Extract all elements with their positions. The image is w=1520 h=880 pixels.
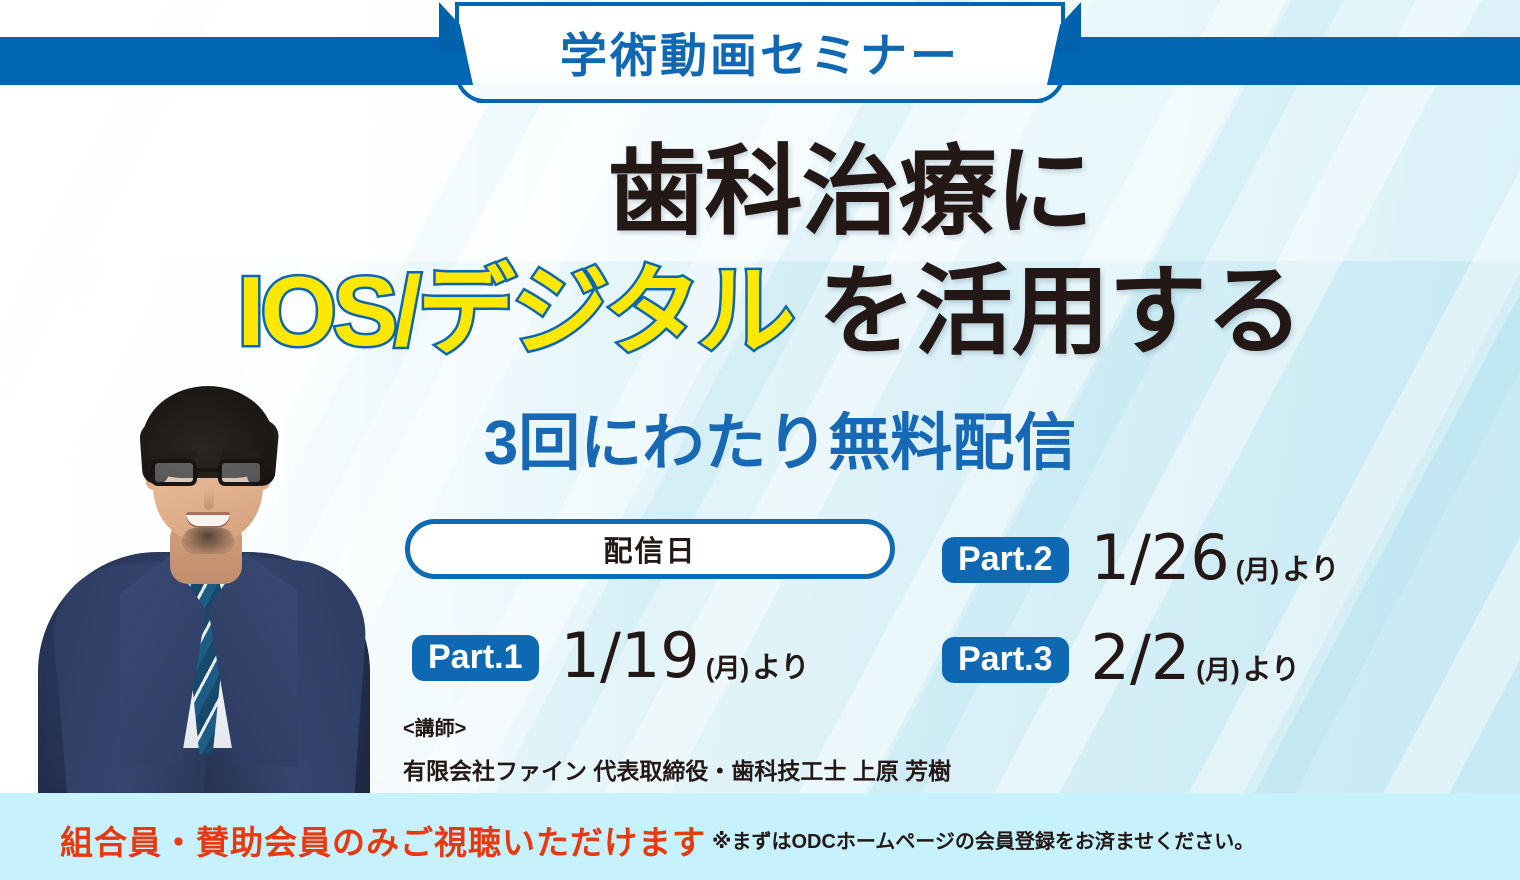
title-highlight-ios-digital: IOS/デジタル <box>237 256 791 366</box>
part1-date: 1/19 <box>561 625 700 687</box>
schedule-row-part2: Part.2 1/26 (月) より <box>942 527 1339 592</box>
photo-goatee <box>182 528 234 554</box>
part1-suffix: より <box>752 654 809 683</box>
title-line-2: IOS/デジタル を活用する <box>0 258 1520 366</box>
part2-date: 1/26 <box>1091 527 1230 589</box>
part3-date: 2/2 <box>1091 627 1191 689</box>
lecturer-name: 有限会社ファイン 代表取締役・歯科技工士 上原 芳樹 <box>403 752 951 786</box>
part1-badge: Part.1 <box>412 635 539 681</box>
schedule-row-part3: Part.3 2/2 (月) より <box>942 627 1300 692</box>
seminar-poster: 学術動画セミナー 歯科治療に IOS/デジタル を活用する 3回にわたり無料配信 <box>0 0 1520 880</box>
photo-nose <box>204 488 214 510</box>
title-line-1: 歯科治療に <box>0 138 1520 246</box>
part2-suffix: より <box>1282 556 1339 585</box>
part3-suffix: より <box>1243 656 1300 685</box>
footer-registration-note: ※まずはODCホームページの会員登録をお済ませください。 <box>712 825 1254 854</box>
part3-weekday: (月) <box>1196 657 1239 683</box>
broadcast-date-pill: 配信日 <box>405 519 895 579</box>
lecturer-label: <講師> <box>403 712 466 741</box>
part1-weekday: (月) <box>706 655 749 681</box>
part2-badge: Part.2 <box>942 537 1069 583</box>
photo-smiling-mouth <box>186 512 230 528</box>
title-line-3-subtitle: 3回にわたり無料配信 <box>0 392 1520 482</box>
broadcast-date-pill-label: 配信日 <box>603 528 696 570</box>
title-line-2-rest: を活用する <box>791 256 1302 366</box>
header-ribbon-label: 学術動画セミナー <box>439 20 1081 82</box>
part3-badge: Part.3 <box>942 637 1069 683</box>
schedule-row-part1: Part.1 1/19 (月) より <box>412 625 809 690</box>
part2-weekday: (月) <box>1236 557 1279 583</box>
footer-eligibility-text: 組合員・賛助会員のみご視聴いただけます <box>60 816 706 864</box>
